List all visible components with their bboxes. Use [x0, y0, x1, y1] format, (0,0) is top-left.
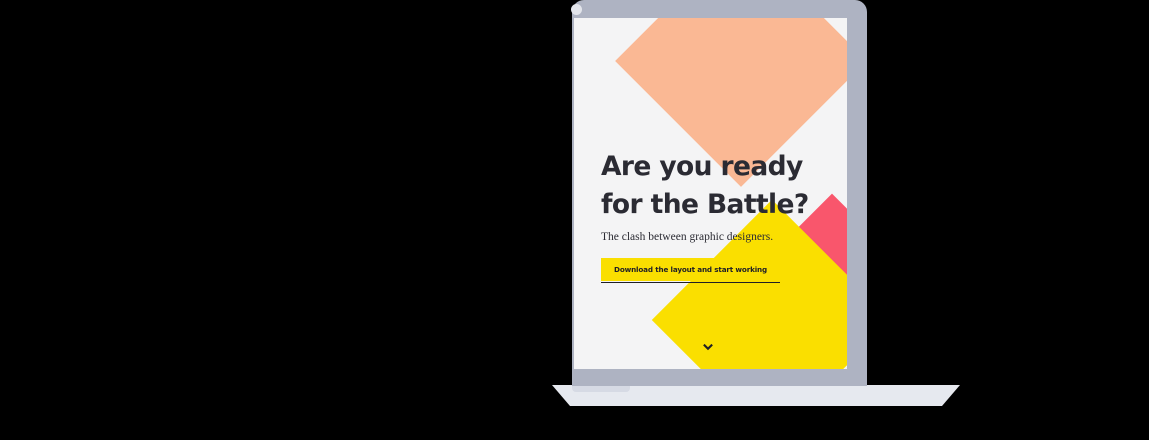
- cta-wrapper: Download the layout and start working: [601, 258, 780, 281]
- download-layout-button[interactable]: Download the layout and start working: [601, 258, 780, 281]
- webcam-icon: [571, 4, 582, 15]
- laptop-base-notch: [572, 385, 630, 392]
- cta-underline: [601, 282, 780, 284]
- hero-section: Are you ready for the Battle? The clash …: [601, 148, 847, 281]
- laptop-screen: Are you ready for the Battle? The clash …: [574, 18, 847, 369]
- laptop-mockup-scene: Are you ready for the Battle? The clash …: [0, 0, 1149, 440]
- hero-subtitle: The clash between graphic designers.: [601, 230, 847, 245]
- page-title: Are you ready for the Battle?: [601, 148, 847, 224]
- chevron-down-icon[interactable]: [701, 340, 715, 354]
